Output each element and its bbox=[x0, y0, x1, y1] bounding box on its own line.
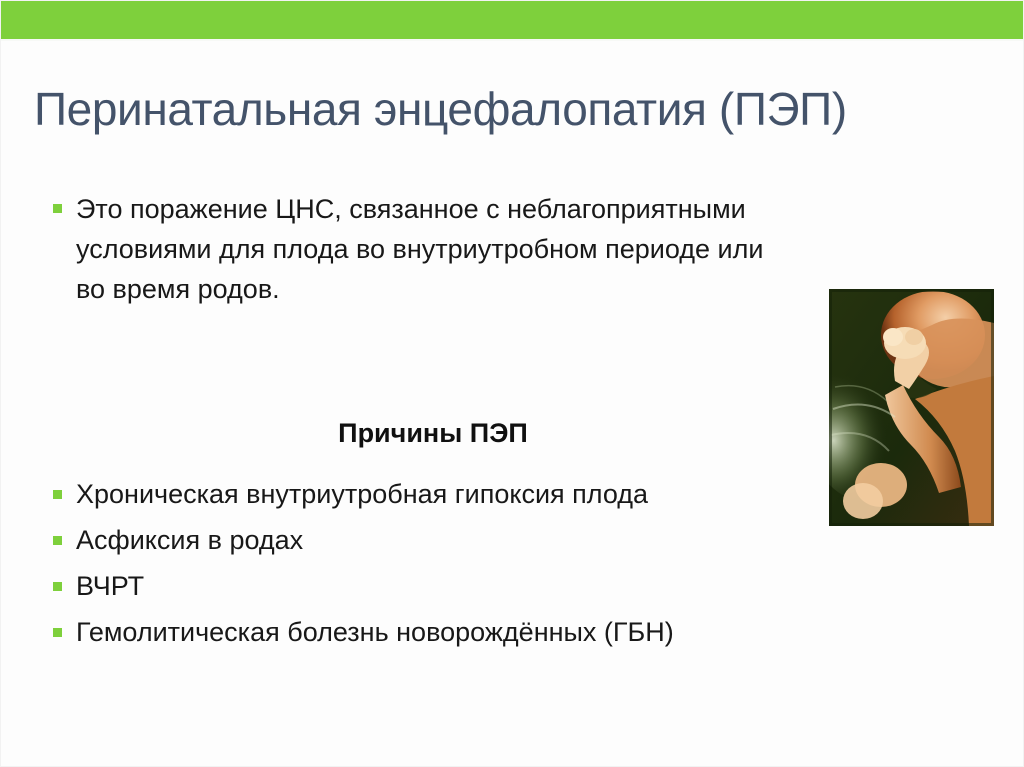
square-bullet-icon bbox=[53, 490, 62, 499]
list-item: Гемолитическая болезнь новорождённых (ГБ… bbox=[53, 609, 933, 655]
list-item: Асфиксия в родах bbox=[53, 517, 933, 563]
intro-line-3: во время родов. bbox=[76, 269, 873, 309]
intro-paragraph: Это поражение ЦНС, связанное с неблагопр… bbox=[53, 189, 873, 309]
bullet-indent-spacer bbox=[53, 284, 62, 293]
causes-list: Хроническая внутриутробная гипоксия плод… bbox=[53, 471, 933, 655]
square-bullet-icon bbox=[53, 536, 62, 545]
list-item: Это поражение ЦНС, связанное с неблагопр… bbox=[53, 189, 873, 229]
list-item-continuation: условиями для плода во внутриутробном пе… bbox=[53, 229, 873, 269]
square-bullet-icon bbox=[53, 628, 62, 637]
list-item-continuation: во время родов. bbox=[53, 269, 873, 309]
cause-item-3: ВЧРТ bbox=[76, 569, 933, 603]
page-title: Перинатальная энцефалопатия (ПЭП) bbox=[34, 80, 984, 138]
list-item: ВЧРТ bbox=[53, 563, 933, 609]
bullet-indent-spacer bbox=[53, 244, 62, 253]
list-item: Хроническая внутриутробная гипоксия плод… bbox=[53, 471, 933, 517]
intro-line-1: Это поражение ЦНС, связанное с неблагопр… bbox=[76, 189, 873, 229]
cause-item-2: Асфиксия в родах bbox=[76, 523, 933, 557]
cause-item-4: Гемолитическая болезнь новорождённых (ГБ… bbox=[76, 615, 933, 649]
top-green-accent-band bbox=[1, 1, 1024, 39]
square-bullet-icon bbox=[53, 204, 62, 213]
slide: Перинатальная энцефалопатия (ПЭП) Это по… bbox=[0, 0, 1024, 767]
causes-heading: Причины ПЭП bbox=[53, 415, 813, 451]
cause-item-1: Хроническая внутриутробная гипоксия плод… bbox=[76, 477, 933, 511]
accent-band-edge bbox=[1, 39, 1024, 41]
intro-line-2: условиями для плода во внутриутробном пе… bbox=[76, 229, 873, 269]
fetus-photo bbox=[829, 289, 994, 526]
square-bullet-icon bbox=[53, 582, 62, 591]
